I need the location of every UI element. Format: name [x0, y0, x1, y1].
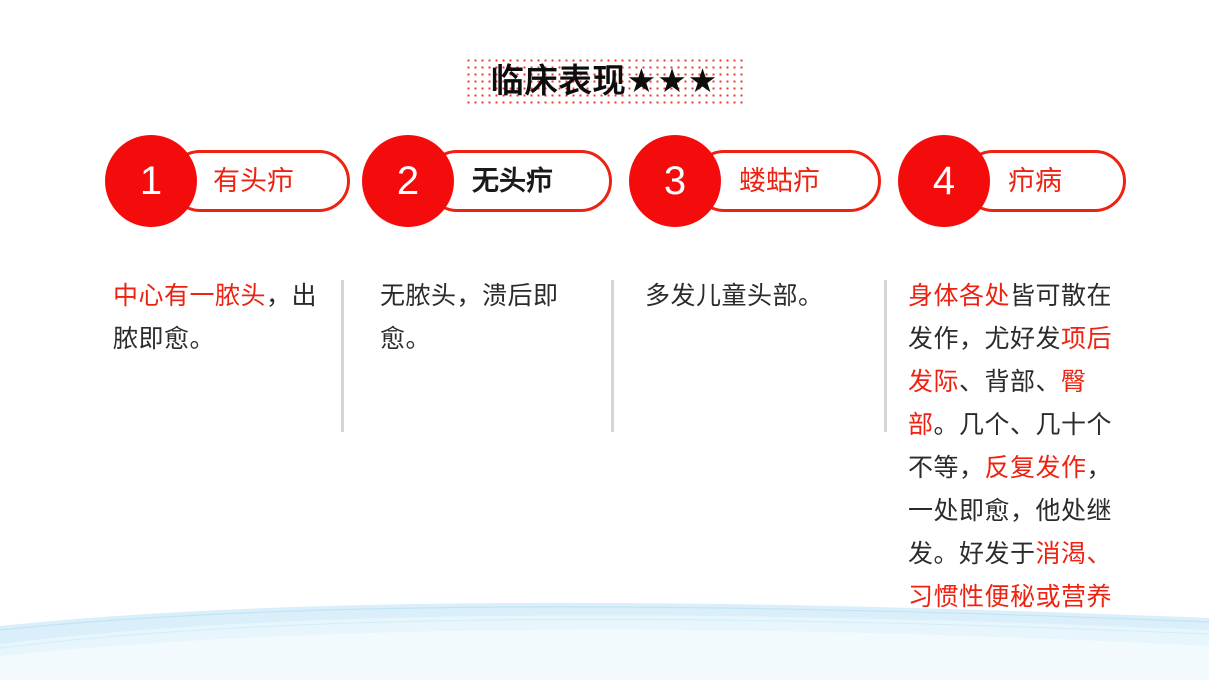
content-column-2: 无脓头，溃后即愈。	[380, 275, 595, 361]
badge-number-3: 3	[629, 135, 721, 227]
badge-item-4[interactable]: 4 疖病	[898, 135, 1126, 227]
column-2-text: 无脓头，溃后即愈。	[380, 275, 595, 361]
text-run-0: 身体各处	[908, 282, 1010, 310]
text-run-6: 反复发作	[985, 454, 1087, 482]
badge-label-4: 疖病	[1008, 150, 1062, 212]
text-run-9: 。	[985, 626, 1011, 654]
content-column-1: 中心有一脓头，出脓即愈。	[113, 275, 323, 361]
title-badge: 临床表现★★★	[465, 57, 745, 107]
text-run-3: 、背部、	[959, 368, 1061, 396]
badge-label-3: 蝼蛄疖	[739, 150, 820, 212]
badge-item-1[interactable]: 1 有头疖	[105, 135, 350, 227]
content-column-3: 多发儿童头部。	[645, 275, 870, 318]
badge-number-2: 2	[362, 135, 454, 227]
badge-item-3[interactable]: 3 蝼蛄疖	[629, 135, 881, 227]
badge-number-4: 4	[898, 135, 990, 227]
content-column-4: 身体各处皆可散在发作，尤好发项后发际、背部、臀部。几个、几十个不等，反复发作，一…	[908, 275, 1126, 662]
content-columns: 中心有一脓头，出脓即愈。 无脓头，溃后即愈。 多发儿童头部。 身体各处皆可散在发…	[0, 275, 1209, 645]
badge-label-1: 有头疖	[213, 150, 294, 212]
text-run-0: 无脓头，溃后即愈。	[380, 282, 559, 353]
column-3-text: 多发儿童头部。	[645, 275, 870, 318]
text-run-0: 中心有一脓头	[113, 282, 266, 310]
slide-canvas: 临床表现★★★ 1 有头疖 2 无头疖 3 蝼蛄疖 4 疖病	[0, 0, 1209, 680]
column-1-text: 中心有一脓头，出脓即愈。	[113, 275, 323, 361]
badge-label-2: 无头疖	[472, 150, 553, 212]
column-4-text: 身体各处皆可散在发作，尤好发项后发际、背部、臀部。几个、几十个不等，反复发作，一…	[908, 275, 1126, 662]
badge-item-2[interactable]: 2 无头疖	[362, 135, 612, 227]
badge-row: 1 有头疖 2 无头疖 3 蝼蛄疖 4 疖病	[0, 0, 1209, 240]
page-title: 临床表现★★★	[491, 61, 719, 101]
badge-number-1: 1	[105, 135, 197, 227]
text-run-0: 多发儿童头部。	[645, 282, 824, 310]
